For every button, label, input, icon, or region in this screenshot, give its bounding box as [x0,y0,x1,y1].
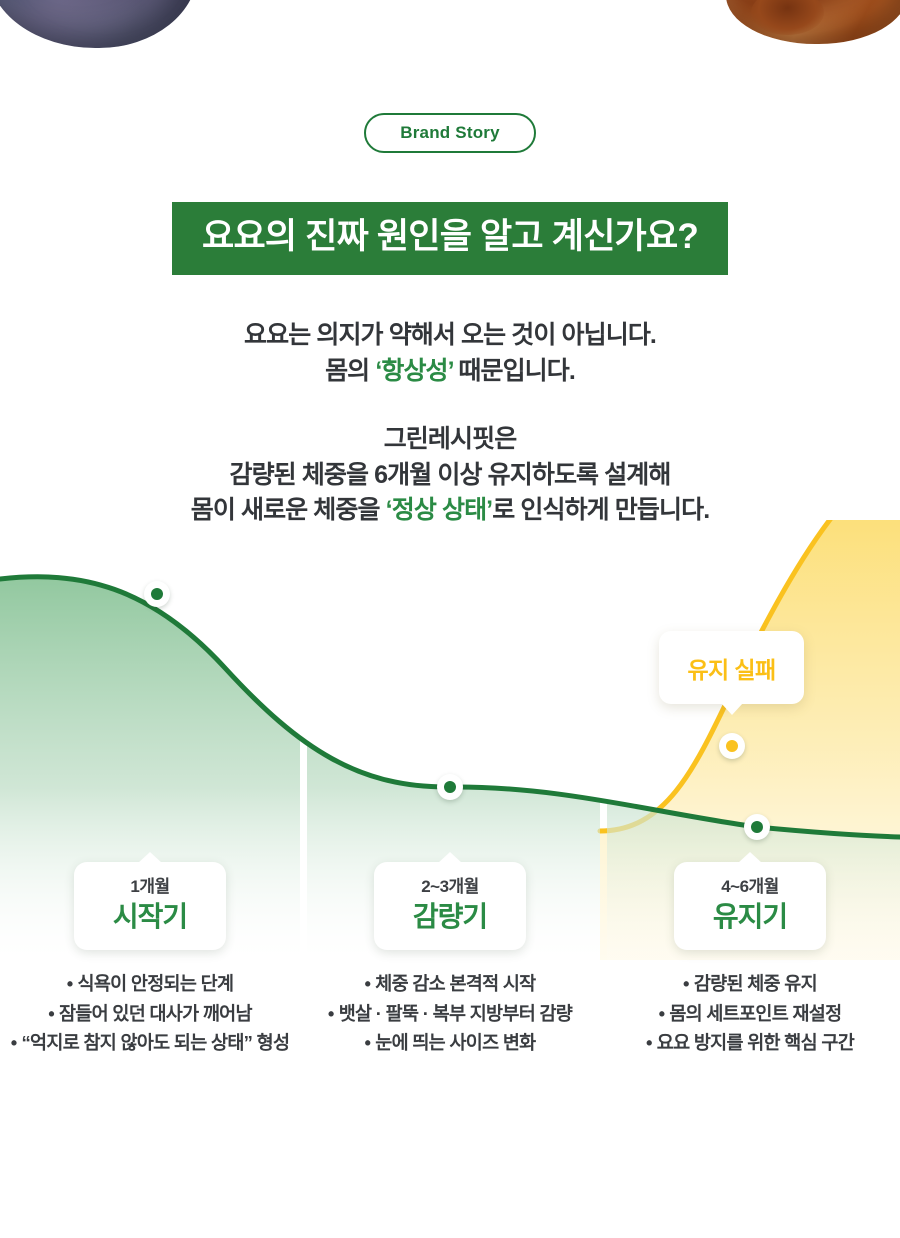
chart-marker-maintenance[interactable] [744,814,770,840]
lead-paragraph-a: 요요는 의지가 약해서 오는 것이 아닙니다. 몸의 ‘항상성’ 때문입니다. [0,318,900,389]
stage-column-start: 1개월 시작기 •식욕이 안정되는 단계 •잠들어 있던 대사가 깨어남 •“억… [0,862,300,1059]
marker-dot-icon [444,781,456,793]
lead-a-line-2-post: 때문입니다. [453,357,575,385]
list-item: •감량된 체중 유지 [605,970,895,999]
stage-period: 1개월 [100,876,200,897]
stage-card-maintenance[interactable]: 4~6개월 유지기 [674,862,826,950]
brand-story-badge: Brand Story [364,113,536,153]
maintenance-failure-callout: 유지 실패 [659,631,804,704]
list-item: •눈에 띄는 사이즈 변화 [305,1029,595,1058]
list-item: •체중 감소 본격적 시작 [305,970,595,999]
maintenance-failure-label: 유지 실패 [687,651,775,685]
list-item: •요요 방지를 위한 핵심 구간 [605,1029,895,1058]
stage-period: 4~6개월 [700,876,800,897]
chart-marker-start[interactable] [144,581,170,607]
stage-card-start[interactable]: 1개월 시작기 [74,862,226,950]
lead-b-line-1-text: 그린레시핏은 [384,425,517,453]
bullet-text: 요요 방지를 위한 핵심 구간 [657,1032,854,1053]
bullet-icon: • [48,1000,54,1029]
marker-dot-icon [151,588,163,600]
stage-columns: 1개월 시작기 •식욕이 안정되는 단계 •잠들어 있던 대사가 깨어남 •“억… [0,862,900,1059]
lead-a-accent-homeostasis: ‘항상성’ [375,357,453,385]
stage-bullets-maintenance: •감량된 체중 유지 •몸의 세트포인트 재설정 •요요 방지를 위한 핵심 구… [605,970,895,1059]
brand-story-badge-row: Brand Story [0,113,900,153]
bullet-text: 감량된 체중 유지 [694,973,817,994]
lead-b-line-1: 그린레시핏은 [0,422,900,458]
bullet-text: 식욕이 안정되는 단계 [78,973,234,994]
chart-marker-reduction[interactable] [437,774,463,800]
lead-a-line-2: 몸의 ‘항상성’ 때문입니다. [0,354,900,390]
list-item: •“억지로 참지 않아도 되는 상태” 형성 [5,1029,295,1058]
list-item: •잠들어 있던 대사가 깨어남 [5,1000,295,1029]
stage-title: 감량기 [400,900,500,934]
stage-title: 시작기 [100,900,200,934]
page-title: 요요의 진짜 원인을 알고 계신가요? [172,202,728,275]
bullet-icon: • [365,970,371,999]
lead-b-line-2-text: 감량된 체중을 6개월 이상 유지하도록 설계해 [229,461,670,489]
stage-column-reduction: 2~3개월 감량기 •체중 감소 본격적 시작 •뱃살 · 팔뚝 · 복부 지방… [300,862,600,1059]
bullet-text: “억지로 참지 않아도 되는 상태” 형성 [22,1032,290,1053]
stage-title: 유지기 [700,900,800,934]
bullet-text: 체중 감소 본격적 시작 [375,973,535,994]
bullet-text: 뱃살 · 팔뚝 · 복부 지방부터 감량 [339,1003,572,1024]
list-item: •식욕이 안정되는 단계 [5,970,295,999]
lead-a-line-1: 요요는 의지가 약해서 오는 것이 아닙니다. [0,318,900,354]
stage-bullets-start: •식욕이 안정되는 단계 •잠들어 있던 대사가 깨어남 •“억지로 참지 않아… [5,970,295,1059]
marker-dot-icon [726,740,738,752]
bullet-text: 눈에 띄는 사이즈 변화 [375,1032,535,1053]
bullet-icon: • [11,1029,17,1058]
marker-dot-icon [751,821,763,833]
stage-column-maintenance: 4~6개월 유지기 •감량된 체중 유지 •몸의 세트포인트 재설정 •요요 방… [600,862,900,1059]
lead-b-line-2: 감량된 체중을 6개월 이상 유지하도록 설계해 [0,458,900,494]
list-item: •뱃살 · 팔뚝 · 복부 지방부터 감량 [305,1000,595,1029]
bullet-icon: • [683,970,689,999]
bullet-icon: • [659,1000,665,1029]
brand-story-page: Brand Story 요요의 진짜 원인을 알고 계신가요? 요요는 의지가 … [0,0,900,1238]
blueberry-photo [0,0,198,48]
lead-paragraph-b: 그린레시핏은 감량된 체중을 6개월 이상 유지하도록 설계해 몸이 새로운 체… [0,422,900,529]
stage-card-reduction[interactable]: 2~3개월 감량기 [374,862,526,950]
bullet-icon: • [646,1029,652,1058]
headline-row: 요요의 진짜 원인을 알고 계신가요? [0,202,900,275]
bullet-text: 몸의 세트포인트 재설정 [669,1003,841,1024]
bullet-icon: • [328,1000,334,1029]
lead-a-line-2-pre: 몸의 [325,357,375,385]
stage-period: 2~3개월 [400,876,500,897]
bullet-icon: • [365,1029,371,1058]
stage-bullets-reduction: •체중 감소 본격적 시작 •뱃살 · 팔뚝 · 복부 지방부터 감량 •눈에 … [305,970,595,1059]
bullet-icon: • [67,970,73,999]
chart-marker-rebound-failure[interactable] [719,733,745,759]
bullet-text: 잠들어 있던 대사가 깨어남 [59,1003,252,1024]
lead-a-line-1-text: 요요는 의지가 약해서 오는 것이 아닙니다. [244,321,656,349]
cinnamon-stick-photo [726,0,900,44]
list-item: •몸의 세트포인트 재설정 [605,1000,895,1029]
